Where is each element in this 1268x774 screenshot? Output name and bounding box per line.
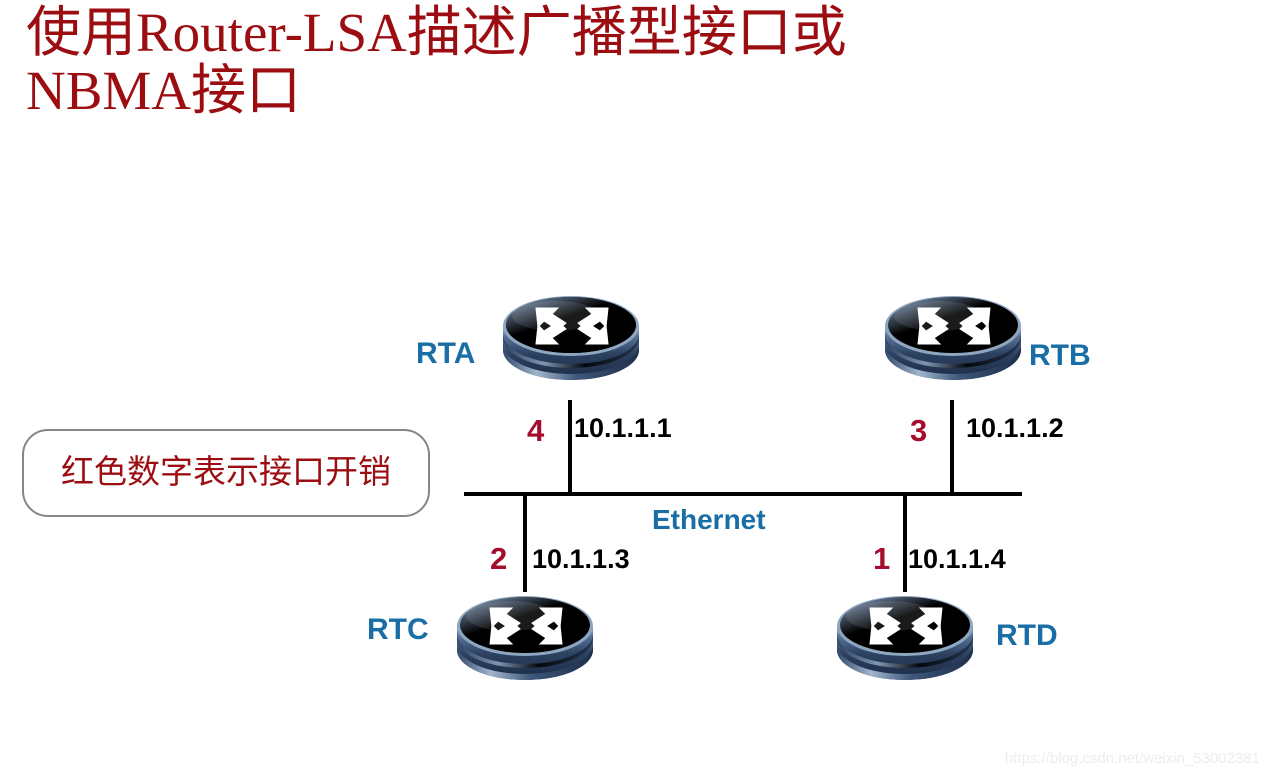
router-label-rtb: RTB [1029, 341, 1091, 371]
ip-rtc: 10.1.1.3 [532, 546, 630, 573]
watermark: https://blog.csdn.net/weixin_53002381 [1005, 751, 1260, 766]
router-label-rtd: RTD [996, 621, 1058, 651]
cost-rtc: 2 [490, 543, 507, 574]
network-diagram: Ethernet [0, 0, 1268, 774]
ethernet-bus [464, 492, 1022, 496]
link-rta-to-bus [568, 400, 572, 496]
ip-rtd: 10.1.1.4 [908, 546, 1006, 573]
ip-rtb: 10.1.1.2 [966, 415, 1064, 442]
router-icon [496, 278, 646, 398]
ip-rta: 10.1.1.1 [574, 415, 672, 442]
router-icon [878, 278, 1028, 398]
router-rtb[interactable] [878, 278, 1028, 398]
router-label-rta: RTA [416, 339, 475, 369]
ethernet-label: Ethernet [652, 506, 766, 534]
cost-rtd: 1 [873, 543, 890, 574]
cost-rta: 4 [527, 415, 544, 446]
router-rtd[interactable] [830, 578, 980, 698]
router-label-rtc: RTC [367, 615, 429, 645]
cost-rtb: 3 [910, 415, 927, 446]
link-rtb-to-bus [950, 400, 954, 496]
router-rta[interactable] [496, 278, 646, 398]
router-rtc[interactable] [450, 578, 600, 698]
router-icon [830, 578, 980, 698]
router-icon [450, 578, 600, 698]
